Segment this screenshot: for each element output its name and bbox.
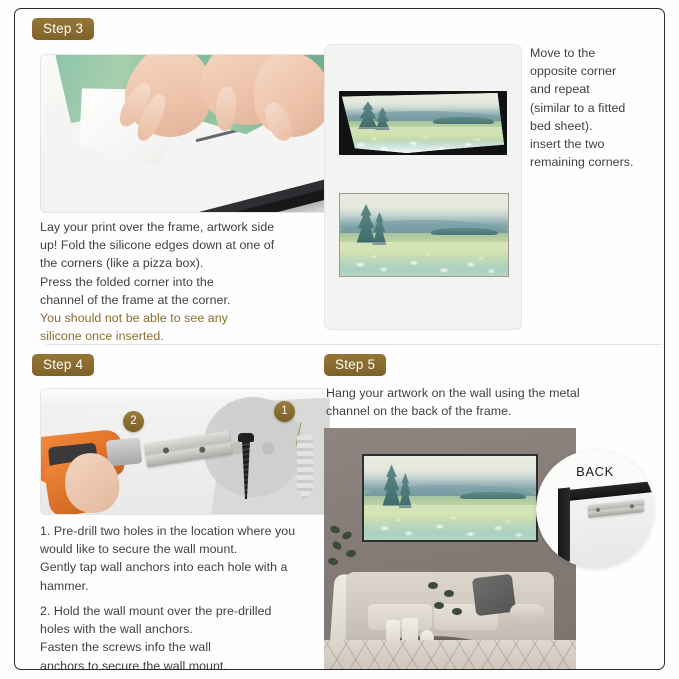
screw-head	[238, 433, 254, 442]
bracket-hole	[163, 447, 170, 454]
marker-1: 1	[274, 401, 295, 422]
meadow-haze	[364, 505, 536, 520]
leaf	[452, 608, 462, 615]
sheet-inner: Step 3	[14, 8, 665, 670]
step-3-photo-hands-folding-print	[40, 54, 330, 213]
finger	[260, 99, 296, 144]
leaf	[327, 557, 338, 566]
distant-treeline	[460, 492, 525, 499]
step-3-badge: Step 3	[32, 18, 94, 40]
marker-2: 2	[123, 411, 144, 432]
step-3-section: Step 3	[32, 18, 332, 338]
bolster-pillow	[510, 604, 544, 620]
meadow-haze	[340, 242, 508, 257]
landscape-artwork	[364, 456, 536, 540]
screw	[241, 433, 251, 507]
leaf	[444, 590, 454, 597]
finished-framed-print-image	[339, 193, 509, 277]
decor-vase	[386, 620, 400, 642]
hands-group	[41, 55, 329, 155]
step-5-caption: Hang your artwork on the wall using the …	[326, 384, 646, 420]
step-3-caption-accent: You should not be able to see any silico…	[40, 309, 340, 345]
evergreen-tree	[379, 464, 403, 506]
step-4-photo-drilling-wall-mount: 1 2	[40, 388, 330, 515]
section-divider	[46, 344, 662, 345]
leaf	[331, 540, 343, 552]
back-of-frame-callout: BACK	[536, 450, 654, 568]
channel-screw	[630, 504, 634, 508]
drilled-hole	[261, 441, 276, 456]
step-4-caption-2: 2. Hold the wall mount over the pre-dril…	[40, 602, 342, 670]
table-branch-arrangement	[422, 578, 468, 628]
bracket-hole	[199, 446, 206, 453]
channel-screw	[596, 508, 600, 512]
leaf	[434, 602, 444, 609]
distant-treeline	[431, 228, 498, 235]
step-3-result-panel	[324, 44, 522, 330]
back-label: BACK	[536, 464, 654, 479]
hung-artwork	[362, 454, 538, 542]
step-4-badge: Step 4	[32, 354, 94, 376]
step-5-badge: Step 5	[324, 354, 386, 376]
step-4-caption-1: 1. Pre-drill two holes in the location w…	[40, 522, 342, 595]
step-5-section: Step 5 Hang your artwork on the wall usi…	[324, 354, 665, 664]
finger	[215, 86, 238, 131]
instruction-sheet: Step 3	[0, 0, 679, 679]
meadow-haze	[342, 127, 504, 138]
leaf	[345, 549, 356, 558]
area-rug	[324, 640, 576, 670]
step-3-side-text: Move to the opposite corner and repeat (…	[530, 44, 665, 171]
distant-treeline	[433, 117, 495, 124]
print-draped-over-frame-image	[339, 91, 507, 155]
loose-print	[342, 93, 504, 153]
leaf	[329, 525, 341, 535]
screw-shaft	[242, 441, 250, 499]
wall-anchor	[297, 435, 313, 501]
leaf	[341, 530, 353, 541]
landscape-artwork	[340, 194, 508, 276]
step-4-section: Step 4 1 2	[32, 354, 332, 664]
frame-left-edge	[558, 487, 570, 562]
step-3-caption: Lay your print over the frame, artwork s…	[40, 218, 340, 309]
leaf	[428, 582, 438, 589]
